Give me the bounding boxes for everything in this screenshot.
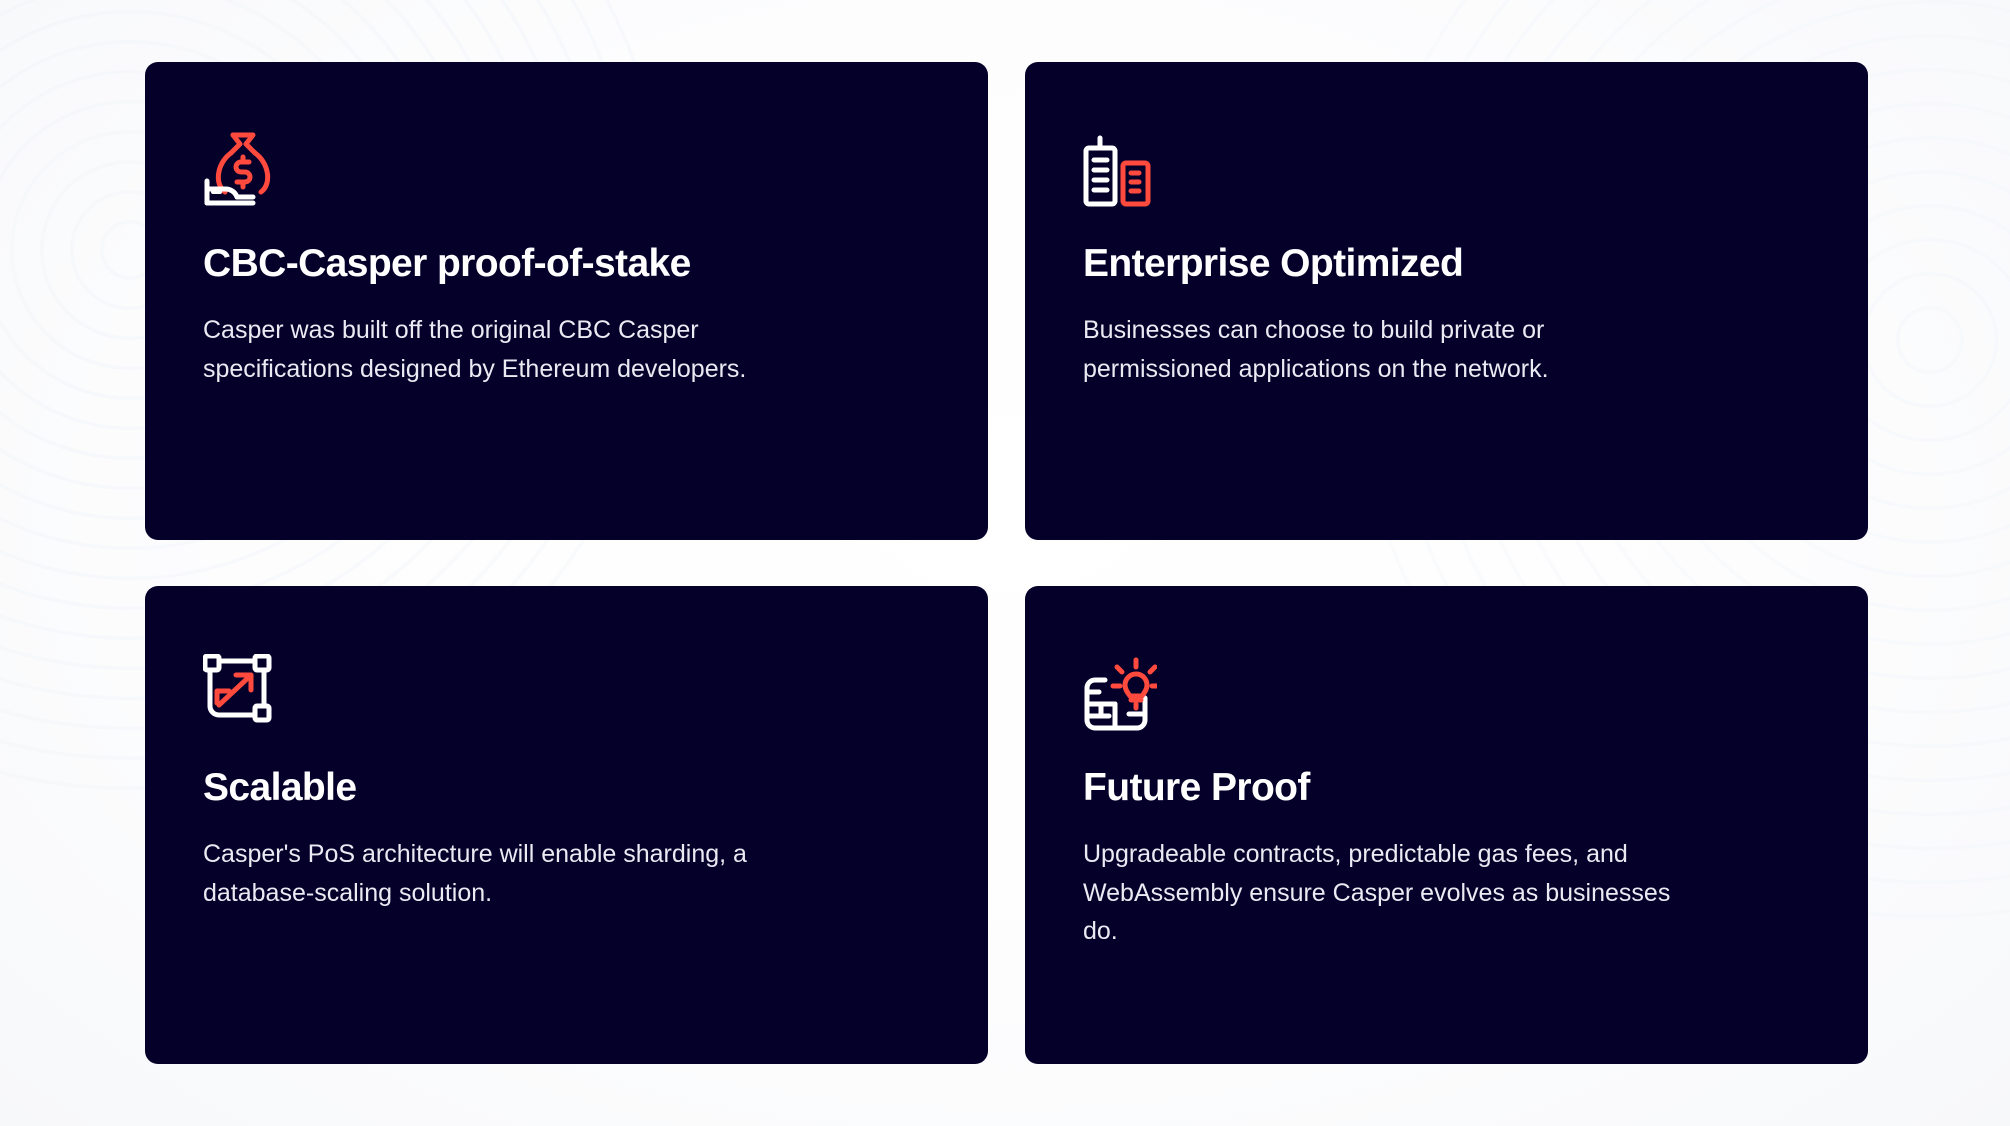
feature-card-scalable[interactable]: Scalable Casper's PoS architecture will … <box>145 586 988 1064</box>
feature-card-title: CBC-Casper proof-of-stake <box>203 242 988 287</box>
scale-arrow-icon <box>203 654 277 732</box>
feature-card-enterprise-optimized[interactable]: Enterprise Optimized Businesses can choo… <box>1025 62 1868 540</box>
feature-card-cbc-casper-proof-of-stake[interactable]: CBC-Casper proof-of-stake Casper was bui… <box>145 62 988 540</box>
feature-card-title: Scalable <box>203 766 988 811</box>
feature-card-future-proof[interactable]: Future Proof Upgradeable contracts, pred… <box>1025 586 1868 1064</box>
feature-card-description: Casper was built off the original CBC Ca… <box>203 311 878 389</box>
feature-cards-grid: CBC-Casper proof-of-stake Casper was bui… <box>145 62 1868 1064</box>
feature-card-title: Future Proof <box>1083 766 1868 811</box>
feature-card-description: Upgradeable contracts, predictable gas f… <box>1083 835 1783 951</box>
feature-card-title: Enterprise Optimized <box>1083 242 1868 287</box>
office-buildings-icon <box>1083 130 1157 208</box>
blueprint-lightbulb-icon <box>1083 654 1157 732</box>
feature-card-description: Casper's PoS architecture will enable sh… <box>203 835 878 913</box>
money-bag-stake-icon <box>203 130 277 208</box>
feature-card-description: Businesses can choose to build private o… <box>1083 311 1783 389</box>
